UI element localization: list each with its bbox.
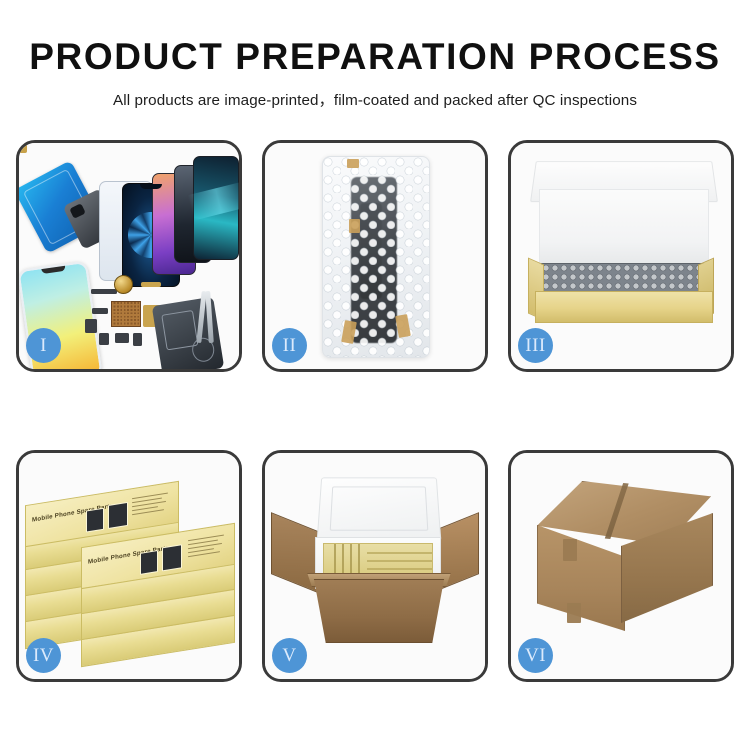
vibrator-icon bbox=[99, 333, 109, 345]
phone-notch-icon bbox=[140, 184, 162, 189]
box-spec-lines-icon bbox=[188, 532, 228, 562]
tape-strip-icon bbox=[349, 219, 360, 233]
kraft-box-front-icon bbox=[535, 291, 713, 323]
sim-tray-icon bbox=[133, 333, 142, 346]
step-badge-6: VI bbox=[518, 638, 553, 673]
small-chip-icon bbox=[92, 308, 108, 314]
carton-front-icon bbox=[305, 579, 453, 643]
bubble-wrap-bag-icon bbox=[322, 156, 430, 358]
teal-phone-icon bbox=[193, 156, 239, 260]
step-badge-2: II bbox=[272, 328, 307, 363]
logic-board-grid-icon bbox=[111, 301, 141, 327]
speaker-coil-icon bbox=[114, 275, 133, 294]
step-badge-4: IV bbox=[26, 638, 61, 673]
box-window-graphic-icon bbox=[86, 508, 104, 533]
flex-cable-icon bbox=[141, 282, 161, 287]
camera-module-icon bbox=[85, 319, 97, 333]
phone-notch-icon bbox=[41, 266, 65, 274]
tweezers-icon bbox=[189, 291, 235, 347]
step-panel-6: VI Sealed shipping carton ready for disp… bbox=[508, 450, 734, 682]
step-badge-3: III bbox=[518, 328, 553, 363]
step-panel-1: I Mobile phone screens, LCD assemblies a… bbox=[16, 140, 242, 372]
header: PRODUCT PREPARATION PROCESS All products… bbox=[0, 0, 750, 110]
box-stack-icon: Mobile Phone Spare Parts Mobile Phone Sp… bbox=[25, 471, 237, 667]
screw-set-icon bbox=[19, 143, 27, 153]
carton-left-face-icon bbox=[537, 525, 625, 631]
foam-sheet-icon bbox=[539, 189, 709, 265]
taptic-engine-icon bbox=[115, 333, 129, 343]
connector-chip-icon bbox=[91, 289, 117, 294]
box-window-graphic-icon bbox=[108, 502, 128, 529]
step-panel-4: Mobile Phone Spare Parts Mobile Phone Sp… bbox=[16, 450, 242, 682]
product-preparation-process-infographic: { "header": { "title": "PRODUCT PREPARAT… bbox=[0, 0, 750, 750]
box-window-graphic-icon bbox=[140, 550, 158, 575]
tape-strip-icon bbox=[347, 159, 359, 168]
carton-tape-icon bbox=[567, 603, 581, 623]
step-panel-3: III Open kraft box with foam padding and… bbox=[508, 140, 734, 372]
box-spec-lines-icon bbox=[132, 490, 172, 520]
step-badge-1: I bbox=[26, 328, 61, 363]
step-badge-5: V bbox=[272, 638, 307, 673]
foam-box-lid-icon bbox=[317, 477, 442, 541]
process-step-grid: I Mobile phone screens, LCD assemblies a… bbox=[16, 140, 734, 682]
carton-tape-icon bbox=[563, 539, 577, 561]
step-panel-5: V Boxes loaded into foam box inside ship… bbox=[262, 450, 488, 682]
page-subtitle: All products are image-printed，film-coat… bbox=[0, 88, 750, 110]
box-window-graphic-icon bbox=[162, 544, 182, 571]
bubble-texture-icon bbox=[323, 157, 429, 357]
page-title: PRODUCT PREPARATION PROCESS bbox=[0, 38, 750, 77]
step-panel-2: II Part sealed in bubble wrap bag bbox=[262, 140, 488, 372]
